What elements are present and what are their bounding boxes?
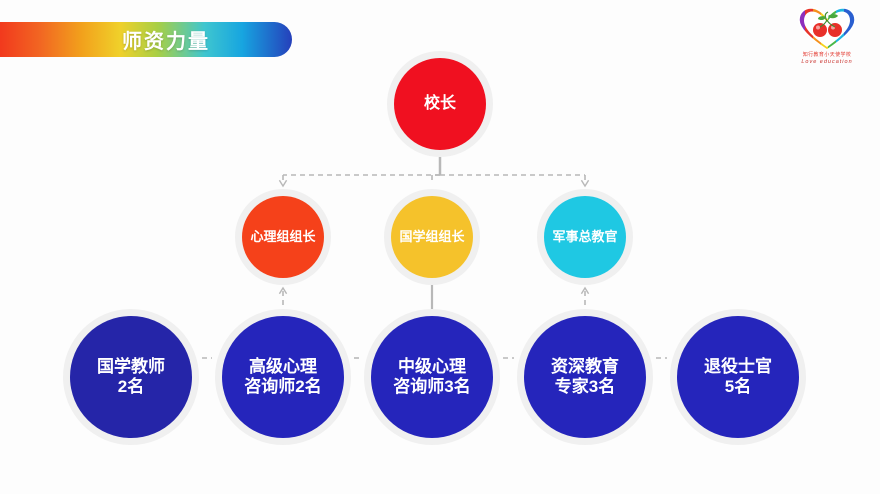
page-title: 师资力量 [82, 25, 210, 54]
org-node-senior-counselors[interactable]: 高级心理 咨询师2名 [222, 316, 344, 438]
org-node-label: 军事总教官 [552, 230, 617, 245]
org-node-intermediate-counselors[interactable]: 中级心理 咨询师3名 [371, 316, 493, 438]
org-node-senior-education-experts[interactable]: 资深教育 专家3名 [524, 316, 646, 438]
org-node-principal[interactable]: 校长 [394, 58, 486, 150]
org-node-label: 退役士官 5名 [704, 357, 772, 396]
org-node-label: 高级心理 咨询师2名 [244, 357, 321, 396]
org-node-label: 国学组组长 [399, 230, 464, 245]
org-node-label: 资深教育 专家3名 [551, 357, 619, 396]
logo-name-en: Love education [801, 60, 852, 66]
logo-name-cn: 知行教育小天使学校 [803, 53, 852, 58]
org-node-psychology-group-leader[interactable]: 心理组组长 [242, 196, 324, 278]
rainbow-heart-cherries-icon [796, 6, 858, 52]
org-node-label: 心理组组长 [250, 230, 315, 245]
org-node-chief-military-instructor[interactable]: 军事总教官 [544, 196, 626, 278]
school-logo: 知行教育小天使学校 Love education [786, 6, 868, 72]
org-node-retired-officers[interactable]: 退役士官 5名 [677, 316, 799, 438]
org-node-chinese-studies-teachers[interactable]: 国学教师 2名 [70, 316, 192, 438]
org-node-label: 中级心理 咨询师3名 [393, 357, 470, 396]
org-node-chinese-studies-group-leader[interactable]: 国学组组长 [391, 196, 473, 278]
org-node-label: 校长 [424, 95, 456, 113]
slide-canvas: 师资力量 [0, 0, 880, 494]
org-node-label: 国学教师 2名 [97, 357, 165, 396]
section-title-banner: 师资力量 [0, 22, 292, 57]
